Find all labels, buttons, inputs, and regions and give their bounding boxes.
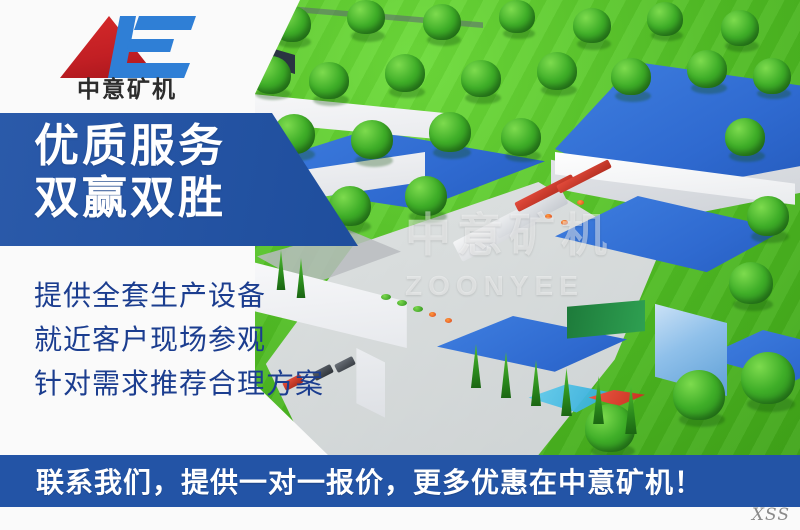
feature-list-item-2: 就近客户现场参观 [34, 318, 454, 362]
conifer-tree [499, 352, 513, 398]
logo-e-middle-bar-icon [126, 39, 174, 52]
flower-bed [545, 214, 552, 219]
conifer-tree [529, 360, 543, 406]
logo-e-bottom-bar-icon [116, 63, 190, 78]
company-logo[interactable]: 中意矿机 [52, 8, 202, 108]
conifer-tree [469, 344, 483, 388]
promo-banner: 中意矿机 ZOONYEE 中意矿机 优质服务 双赢双胜 提供全套生产设备 就近客… [0, 0, 800, 530]
headline-line-2: 双赢双胜 [34, 174, 334, 221]
call-to-action-text: 联系我们，提供一对一报价，更多优惠在中意矿机！ [36, 461, 703, 501]
call-to-action-bar[interactable]: 联系我们，提供一对一报价，更多优惠在中意矿机！ [0, 455, 800, 507]
headline: 优质服务 双赢双胜 [34, 122, 334, 222]
conifer-tree [591, 376, 606, 424]
conifer-tree [559, 368, 574, 416]
feature-list-item-1: 提供全套生产设备 [34, 274, 454, 318]
conifer-tree [623, 384, 639, 434]
flower-bed [561, 220, 568, 225]
headline-line-1: 优质服务 [34, 122, 334, 169]
logo-e-top-bar-icon [134, 16, 196, 30]
feature-list: 提供全套生产设备 就近客户现场参观 针对需求推荐合理方案 [34, 274, 454, 407]
feature-list-item-3: 针对需求推荐合理方案 [34, 362, 454, 406]
triangle-e-logo-icon [52, 8, 202, 78]
logo-wordmark: 中意矿机 [52, 78, 202, 103]
footer-watermark: XSS [752, 505, 790, 525]
flower-bed [577, 200, 584, 205]
